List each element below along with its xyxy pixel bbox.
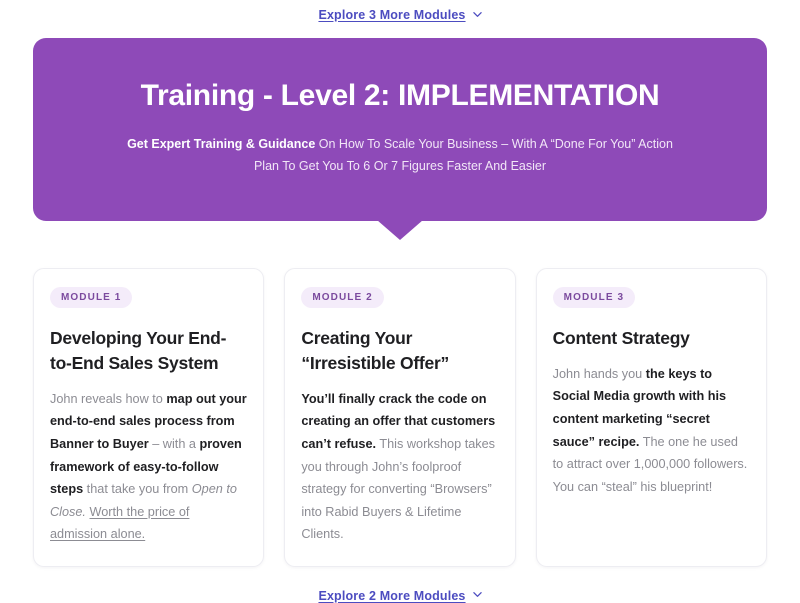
bottom-expand-row: Explore 2 More Modules (0, 567, 800, 603)
explore-more-modules-link-top[interactable]: Explore 3 More Modules (318, 8, 481, 22)
training-banner: Training - Level 2: IMPLEMENTATION Get E… (33, 38, 767, 221)
banner-pointer-arrow (377, 220, 423, 240)
module-card-3[interactable]: MODULE 3 Content Strategy John hands you… (536, 268, 767, 567)
module-2-text-2: This workshop takes you through John’s f… (301, 437, 495, 541)
module-body-2: You’ll finally crack the code on creatin… (301, 388, 498, 546)
module-title-1: Developing Your End-to-End Sales System (50, 326, 247, 376)
module-1-text-3: – with a (149, 437, 200, 451)
module-badge-1: MODULE 1 (50, 287, 132, 308)
module-title-2: Creating Your “Irresistible Offer” (301, 326, 498, 376)
module-body-1: John reveals how to map out your end-to-… (50, 388, 247, 546)
chevron-down-icon (473, 10, 482, 19)
explore-more-modules-label-top: Explore 3 More Modules (318, 8, 465, 22)
module-1-text-5: that take you from (83, 482, 192, 496)
module-1-text-1: John reveals how to (50, 392, 166, 406)
module-title-3: Content Strategy (553, 326, 750, 351)
explore-more-modules-link-bottom[interactable]: Explore 2 More Modules (318, 589, 481, 603)
chevron-down-icon (473, 590, 482, 599)
banner-subtitle-bold: Get Expert Training & Guidance (127, 137, 315, 151)
banner-subtitle-rest: On How To Scale Your Business – With A “… (254, 137, 673, 173)
banner-inner: Training - Level 2: IMPLEMENTATION Get E… (33, 38, 767, 221)
top-expand-row: Explore 3 More Modules (0, 0, 800, 22)
module-3-text-1: John hands you (553, 367, 646, 381)
module-card-2[interactable]: MODULE 2 Creating Your “Irresistible Off… (284, 268, 515, 567)
module-card-1[interactable]: MODULE 1 Developing Your End-to-End Sale… (33, 268, 264, 567)
banner-subtitle: Get Expert Training & Guidance On How To… (120, 134, 680, 178)
modules-row: MODULE 1 Developing Your End-to-End Sale… (33, 268, 767, 567)
module-badge-2: MODULE 2 (301, 287, 383, 308)
module-badge-3: MODULE 3 (553, 287, 635, 308)
explore-more-modules-label-bottom: Explore 2 More Modules (318, 589, 465, 603)
banner-title: Training - Level 2: IMPLEMENTATION (73, 79, 727, 114)
module-body-3: John hands you the keys to Social Media … (553, 363, 750, 499)
